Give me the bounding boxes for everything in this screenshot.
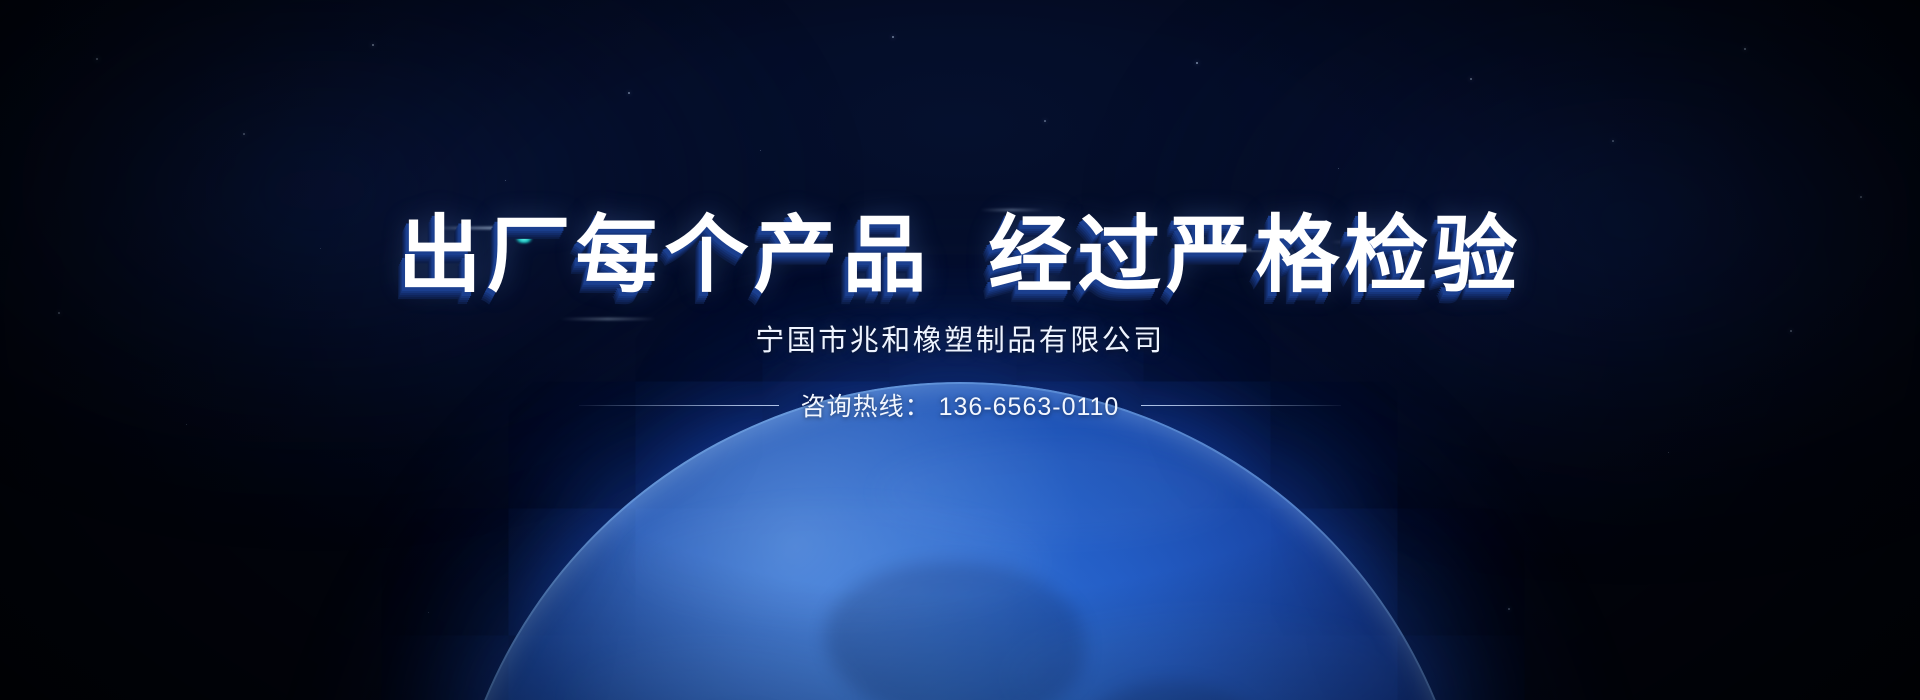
planet-globe (445, 382, 1475, 700)
divider-line-right (1141, 405, 1341, 406)
hotline-row: 咨询热线： 136-6563-0110 (0, 387, 1920, 423)
page-title: 出厂每个产品 经过严格检验 (0, 213, 1920, 297)
banner-content: 出厂每个产品 经过严格检验 宁国市兆和橡塑制品有限公司 咨询热线： 136-65… (0, 0, 1920, 423)
star-dot (186, 424, 187, 425)
divider-line-left (579, 405, 779, 406)
hero-banner: 出厂每个产品 经过严格检验 宁国市兆和橡塑制品有限公司 咨询热线： 136-65… (0, 0, 1920, 700)
company-name: 宁国市兆和橡塑制品有限公司 (0, 317, 1920, 359)
star-dot (1668, 452, 1669, 453)
hotline-text: 咨询热线： 136-6563-0110 (801, 387, 1120, 423)
